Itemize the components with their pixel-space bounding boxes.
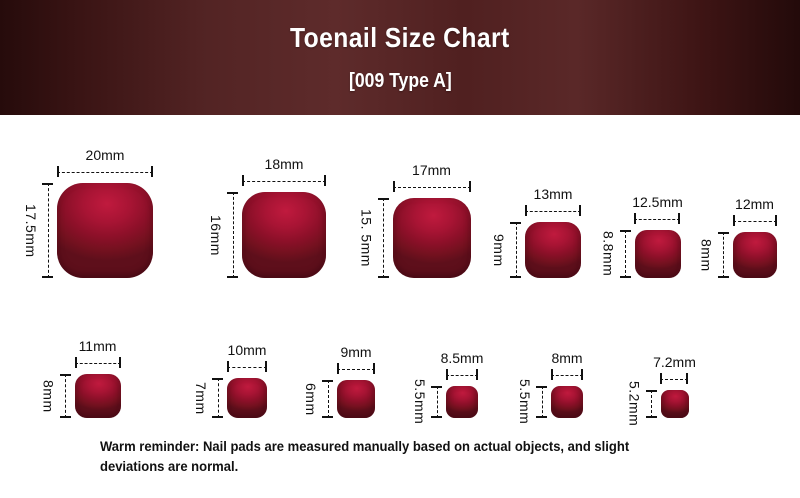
height-label: 7mm (193, 382, 209, 415)
height-label: 17.5mm (23, 204, 39, 258)
size-row-2: 11mm8mm10mm7mm9mm6mm8.5mm5.5mm8mm5.5mm7.… (0, 300, 800, 418)
warm-reminder-note: Warm reminder: Nail pads are measured ma… (100, 436, 677, 477)
width-dimension: 12.5mm (632, 194, 683, 224)
dimension-cap-icon (322, 380, 333, 382)
nail-size-cell: 20mm17.5mm (0, 118, 200, 278)
width-dimension: 18mm (242, 156, 326, 186)
height-dimension-line (718, 232, 729, 278)
width-label: 7.2mm (653, 354, 696, 370)
width-label: 12mm (735, 196, 774, 212)
height-label: 5.2mm (627, 381, 643, 426)
height-dimension-line (42, 183, 53, 278)
nail-swatch-group: 9mm (525, 222, 581, 278)
width-dimension: 7.2mm (653, 354, 696, 384)
nail-swatch-group: 8mm (733, 232, 777, 278)
height-label: 5.5mm (412, 379, 428, 424)
dimension-cap-icon (42, 276, 53, 278)
height-label: 16mm (208, 215, 224, 256)
nail-swatch-group: 8mm (75, 374, 121, 418)
nail-swatch-group: 5.5mm (446, 386, 478, 418)
nail-size-cell: 13mm9mm (495, 118, 605, 278)
height-dimension-line (510, 222, 521, 278)
nail-swatch (551, 386, 583, 418)
dimension-cap-icon (620, 230, 631, 232)
nail-swatch-group: 7mm (227, 378, 267, 418)
width-dimension: 20mm (57, 147, 153, 177)
nail-size-cell: 17mm15. 5mm (360, 118, 495, 278)
width-label: 13mm (534, 186, 573, 202)
dimension-cap-icon (337, 363, 339, 374)
dimension-cap-icon (227, 192, 238, 194)
dimension-cap-icon (431, 386, 442, 388)
dimension-cap-icon (265, 361, 267, 372)
dimension-cap-icon (634, 213, 636, 224)
dimension-cap-icon (322, 416, 333, 418)
width-label: 9mm (340, 344, 371, 360)
height-label: 15. 5mm (359, 209, 375, 267)
nail-swatch (242, 192, 326, 278)
height-dimension: 8mm (699, 232, 729, 278)
nail-swatch (446, 386, 478, 418)
dimension-cap-icon (42, 183, 53, 185)
height-dimension: 5.5mm (412, 386, 442, 418)
width-dimension-line (337, 363, 375, 374)
height-dimension-line (378, 198, 389, 278)
dimension-cap-icon (378, 276, 389, 278)
width-label: 17mm (412, 162, 451, 178)
height-dimension: 5.5mm (517, 386, 547, 418)
width-label: 11mm (79, 338, 117, 354)
height-dimension-line (620, 230, 631, 278)
width-dimension: 8mm (551, 350, 583, 380)
width-dimension-line (446, 369, 478, 380)
height-label: 9mm (491, 234, 507, 267)
dimension-cap-icon (60, 374, 71, 376)
width-dimension: 13mm (525, 186, 581, 216)
dimension-cap-icon (378, 198, 389, 200)
dimension-cap-icon (242, 175, 244, 186)
nail-swatch (525, 222, 581, 278)
width-dimension-line (660, 373, 688, 384)
dimension-cap-icon (75, 357, 77, 368)
height-label: 6mm (303, 383, 319, 416)
dimension-cap-icon (510, 276, 521, 278)
dimension-cap-icon (212, 378, 223, 380)
dimension-cap-icon (678, 213, 680, 224)
width-label: 10mm (228, 342, 267, 358)
dimension-cap-icon (646, 390, 657, 392)
height-label: 5.5mm (517, 379, 533, 424)
width-dimension-line (57, 166, 153, 177)
nail-swatch (227, 378, 267, 418)
height-dimension: 7mm (193, 378, 223, 418)
nail-swatch-group: 5.5mm (551, 386, 583, 418)
height-dimension: 5.2mm (627, 390, 657, 418)
width-dimension-line (551, 369, 583, 380)
height-dimension-line (646, 390, 657, 418)
dimension-cap-icon (525, 205, 527, 216)
nail-swatch-group: 17.5mm (57, 183, 153, 278)
width-dimension: 10mm (227, 342, 267, 372)
width-dimension-line (242, 175, 326, 186)
nail-swatch (337, 380, 375, 418)
nail-size-cell: 10mm7mm (190, 300, 300, 418)
nail-size-cell: 8mm5.5mm (513, 300, 618, 418)
width-dimension-line (525, 205, 581, 216)
dimension-cap-icon (686, 373, 688, 384)
height-dimension: 15. 5mm (359, 198, 389, 278)
width-dimension: 8.5mm (441, 350, 484, 380)
nail-size-cell: 9mm6mm (300, 300, 408, 418)
nail-swatch-group: 6mm (337, 380, 375, 418)
height-dimension-line (227, 192, 238, 278)
nail-size-cell: 12.5mm8.8mm (605, 118, 705, 278)
height-dimension: 8.8mm (601, 230, 631, 278)
dimension-cap-icon (212, 416, 223, 418)
nail-size-cell: 8.5mm5.5mm (408, 300, 513, 418)
width-label: 18mm (265, 156, 304, 172)
height-dimension: 8mm (41, 374, 71, 418)
nail-size-cell: 7.2mm5.2mm (618, 300, 728, 418)
nail-swatch-group: 16mm (242, 192, 326, 278)
dimension-cap-icon (393, 181, 395, 192)
height-label: 8.8mm (601, 231, 617, 276)
width-dimension: 17mm (393, 162, 471, 192)
nail-swatch (393, 198, 471, 278)
dimension-cap-icon (581, 369, 583, 380)
height-dimension: 16mm (208, 192, 238, 278)
height-dimension-line (60, 374, 71, 418)
height-dimension-line (212, 378, 223, 418)
dimension-cap-icon (536, 386, 547, 388)
dimension-cap-icon (373, 363, 375, 374)
dimension-cap-icon (476, 369, 478, 380)
nail-swatch (661, 390, 689, 418)
dimension-cap-icon (536, 416, 547, 418)
dimension-cap-icon (57, 166, 59, 177)
dimension-cap-icon (119, 357, 121, 368)
width-label: 12.5mm (632, 194, 683, 210)
nail-swatch (75, 374, 121, 418)
nail-swatch (733, 232, 777, 278)
dimension-cap-icon (775, 215, 777, 226)
height-dimension-line (536, 386, 547, 418)
dimension-cap-icon (620, 276, 631, 278)
height-dimension: 6mm (303, 380, 333, 418)
width-label: 20mm (86, 147, 125, 163)
width-dimension-line (75, 357, 121, 368)
width-dimension: 11mm (75, 338, 121, 368)
dimension-cap-icon (660, 373, 662, 384)
nail-swatch (57, 183, 153, 278)
nail-swatch (635, 230, 681, 278)
size-row-1: 20mm17.5mm18mm16mm17mm15. 5mm13mm9mm12.5… (0, 118, 800, 278)
width-dimension-line (227, 361, 267, 372)
width-label: 8mm (551, 350, 582, 366)
height-dimension-line (322, 380, 333, 418)
height-label: 8mm (41, 380, 57, 413)
height-dimension: 17.5mm (23, 183, 53, 278)
dimension-cap-icon (60, 416, 71, 418)
dimension-cap-icon (718, 232, 729, 234)
width-dimension-line (634, 213, 680, 224)
width-dimension: 12mm (733, 196, 777, 226)
dimension-cap-icon (469, 181, 471, 192)
nail-size-cell: 11mm8mm (0, 300, 190, 418)
dimension-cap-icon (324, 175, 326, 186)
nail-swatch-group: 15. 5mm (393, 198, 471, 278)
nail-swatch-group: 5.2mm (661, 390, 689, 418)
dimension-cap-icon (646, 416, 657, 418)
page-title: Toenail Size Chart (290, 22, 510, 54)
width-dimension-line (733, 215, 777, 226)
height-dimension-line (431, 386, 442, 418)
nail-swatch-group: 8.8mm (635, 230, 681, 278)
height-dimension: 9mm (491, 222, 521, 278)
width-dimension: 9mm (337, 344, 375, 374)
nail-size-cell: 18mm16mm (200, 118, 360, 278)
dimension-cap-icon (446, 369, 448, 380)
dimension-cap-icon (718, 276, 729, 278)
dimension-cap-icon (431, 416, 442, 418)
dimension-cap-icon (733, 215, 735, 226)
chart-header: Toenail Size Chart [009 Type A] (0, 0, 800, 115)
dimension-cap-icon (151, 166, 153, 177)
height-label: 8mm (699, 239, 715, 272)
chart-subtitle: [009 Type A] (349, 70, 452, 93)
dimension-cap-icon (227, 276, 238, 278)
dimension-cap-icon (227, 361, 229, 372)
dimension-cap-icon (551, 369, 553, 380)
width-label: 8.5mm (441, 350, 484, 366)
width-dimension-line (393, 181, 471, 192)
dimension-cap-icon (510, 222, 521, 224)
nail-size-cell: 12mm8mm (705, 118, 800, 278)
dimension-cap-icon (579, 205, 581, 216)
